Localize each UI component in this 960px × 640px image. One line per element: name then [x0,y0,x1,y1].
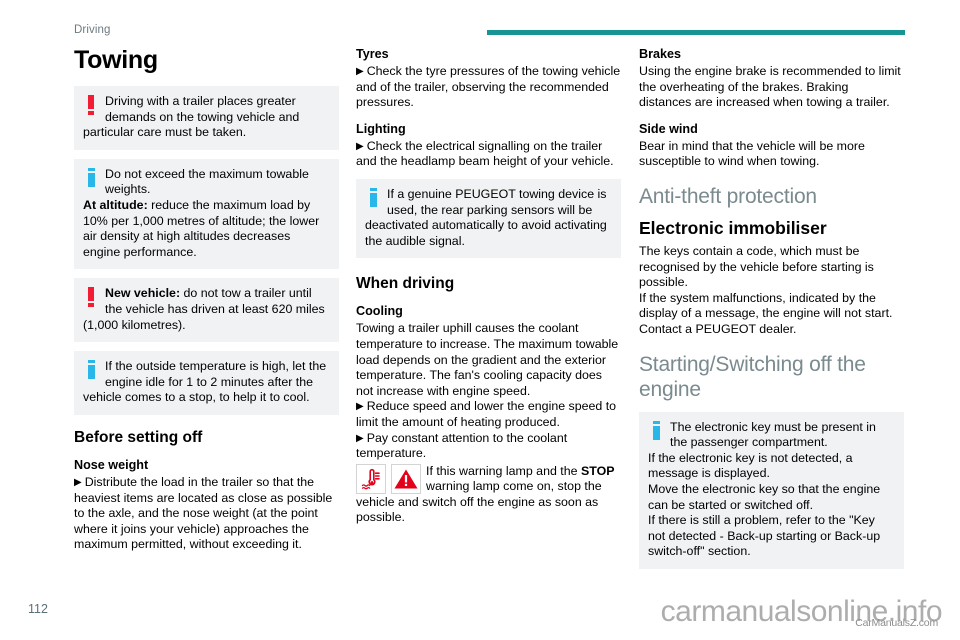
step-text: Distribute the load in the trailer so th… [74,475,332,551]
callout-warning-new-vehicle: New vehicle: do not tow a trailer until … [74,278,339,342]
caption-stop-bold: STOP [581,464,615,478]
heading-anti-theft-protection: Anti-theft protection [639,184,904,209]
heading-before-setting-off: Before setting off [74,428,339,447]
callout-info-outside-temperature: If the outside temperature is high, let … [74,351,339,415]
callout-warning-towing-demands: Driving with a trailer places greater de… [74,86,339,150]
step-lighting: ▶Check the electrical signalling on the … [356,139,621,170]
heading-starting-switching-off: Starting/Switching off the engine [639,352,904,402]
callout-text: If the outside temperature is high, let … [83,359,330,406]
information-i-icon [83,168,99,187]
callout-info-electronic-key: The electronic key must be present in th… [639,412,904,569]
content-columns: Towing Driving with a trailer places gre… [0,46,960,594]
paragraph-side-wind: Bear in mind that the vehicle will be mo… [639,139,904,170]
caption-part-1: If this warning lamp and the [426,464,581,478]
coolant-temperature-warning-lamp-icon [356,464,386,494]
warning-lamp-figure-group: If this warning lamp and the STOP warnin… [356,464,621,526]
information-i-icon [365,188,381,207]
step-arrow-icon: ▶ [356,66,367,77]
warning-exclamation-icon [83,287,99,307]
subheading-lighting: Lighting [356,121,621,137]
column-two: Tyres ▶Check the tyre pressures of the t… [356,46,621,526]
page-title: Towing [74,46,339,74]
information-i-icon [83,360,99,379]
step-nose-weight: ▶Distribute the load in the trailer so t… [74,475,339,553]
step-tyres: ▶Check the tyre pressures of the towing … [356,64,621,111]
step-text: Pay constant attention to the coolant te… [356,431,567,461]
paragraph-immobiliser-1: The keys contain a code, which must be r… [639,244,904,291]
step-reduce-speed: ▶Reduce speed and lower the engine speed… [356,399,621,430]
paragraph-immobiliser-2: If the system malfunctions, indicated by… [639,291,904,338]
column-one: Towing Driving with a trailer places gre… [74,46,339,553]
subheading-side-wind: Side wind [639,121,904,137]
watermark-sub-site: CarManualsZ.com [855,617,938,629]
callout-text: Driving with a trailer places greater de… [83,94,330,141]
callout-info-towable-weights: Do not exceed the maximum towable weight… [74,159,339,270]
heading-electronic-immobiliser: Electronic immobiliser [639,219,904,238]
step-arrow-icon: ▶ [356,433,367,444]
subheading-nose-weight: Nose weight [74,457,339,473]
paragraph-brakes: Using the engine brake is recommended to… [639,64,904,111]
callout-text-line-2: At altitude: reduce the maximum load by … [83,198,330,260]
callout-text: New vehicle: do not tow a trailer until … [83,286,330,333]
step-coolant-attention: ▶Pay constant attention to the coolant t… [356,431,621,462]
step-text: Reduce speed and lower the engine speed … [356,399,616,429]
subheading-tyres: Tyres [356,46,621,62]
heading-when-driving: When driving [356,274,621,293]
callout-text-line-2: If the electronic key is not detected, a… [648,451,895,482]
callout-bold-lead: At altitude: [83,198,148,212]
subheading-cooling: Cooling [356,303,621,319]
callout-text-line-1: The electronic key must be present in th… [648,420,895,451]
paragraph-cooling: Towing a trailer uphill causes the coola… [356,321,621,399]
step-arrow-icon: ▶ [356,141,367,152]
step-text: Check the tyre pressures of the towing v… [356,64,620,109]
callout-text: If a genuine PEUGEOT towing device is us… [365,187,612,249]
subheading-brakes: Brakes [639,46,904,62]
callout-text-line-1: Do not exceed the maximum towable weight… [83,167,330,198]
header-accent-rule [487,30,905,35]
callout-info-peugeot-towing-device: If a genuine PEUGEOT towing device is us… [356,179,621,258]
callout-text-line-3: Move the electronic key so that the engi… [648,482,895,513]
page-number: 112 [28,602,48,616]
step-text: Check the electrical signalling on the t… [356,139,614,169]
step-arrow-icon: ▶ [356,401,367,412]
callout-text-line-4: If there is still a problem, refer to th… [648,513,895,560]
column-three: Brakes Using the engine brake is recomme… [639,46,904,569]
warning-exclamation-icon [83,95,99,115]
breadcrumb-chapter: Driving [74,24,111,37]
stop-warning-triangle-lamp-icon [391,464,421,494]
callout-bold-lead: New vehicle: [105,286,180,300]
step-arrow-icon: ▶ [74,477,85,488]
information-i-icon [648,421,664,440]
page-header: Driving [0,0,960,40]
